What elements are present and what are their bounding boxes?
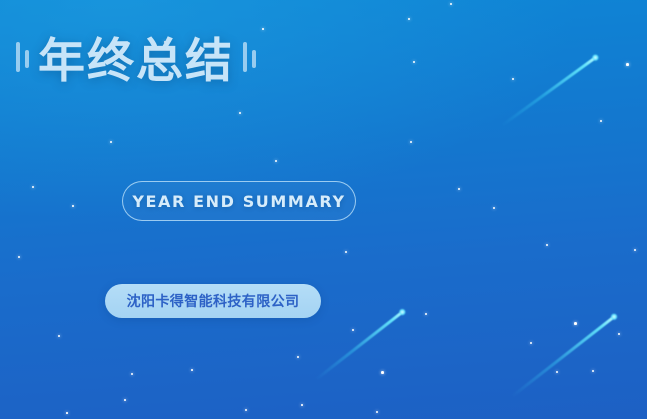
star-dot — [72, 205, 74, 207]
star-dot — [239, 112, 241, 114]
star-dot — [408, 18, 410, 20]
company-name-label: 沈阳卡得智能科技有限公司 — [127, 291, 300, 311]
star-dot — [512, 78, 514, 80]
star-dot — [592, 370, 594, 372]
star-dot — [493, 207, 495, 209]
star-dot — [191, 369, 193, 371]
english-subtitle-badge: YEAR END SUMMARY — [122, 181, 356, 221]
star-dot — [131, 373, 133, 375]
star-dot — [262, 28, 264, 30]
star-dot — [66, 412, 68, 414]
english-subtitle-label: YEAR END SUMMARY — [132, 192, 345, 211]
star-dot — [381, 371, 384, 374]
star-dot — [450, 3, 452, 5]
star-dot — [556, 371, 558, 373]
year-end-summary-slide: 年终总结 YEAR END SUMMARY 沈阳卡得智能科技有限公司 — [0, 0, 647, 419]
meteor-bottom-right-icon — [511, 314, 617, 398]
star-dot — [376, 411, 378, 413]
star-dot — [32, 186, 34, 188]
company-name-badge: 沈阳卡得智能科技有限公司 — [105, 284, 321, 318]
star-dot — [352, 329, 354, 331]
title-row: 年终总结 — [16, 30, 256, 92]
star-dot — [600, 120, 602, 122]
page-title: 年终总结 — [38, 38, 234, 85]
star-dot — [245, 409, 247, 411]
star-dot — [546, 244, 548, 246]
star-dot — [410, 141, 412, 143]
meteor-bottom-center-icon — [315, 309, 405, 380]
star-dot — [345, 251, 347, 253]
star-dot — [530, 342, 532, 344]
star-dot — [425, 313, 427, 315]
star-dot — [626, 63, 629, 66]
star-dot — [301, 404, 303, 406]
title-right-ticks-icon — [243, 38, 256, 84]
star-dot — [413, 61, 415, 63]
star-dot — [458, 188, 460, 190]
star-dot — [18, 256, 20, 258]
star-dot — [110, 141, 112, 143]
star-dot — [124, 399, 126, 401]
star-dot — [634, 249, 636, 251]
star-dot — [574, 322, 577, 325]
star-dot — [618, 333, 620, 335]
star-dot — [58, 335, 60, 337]
star-dot — [275, 160, 277, 162]
star-dot — [297, 356, 299, 358]
title-left-ticks-icon — [16, 38, 29, 84]
meteor-top-right-icon — [501, 55, 598, 127]
